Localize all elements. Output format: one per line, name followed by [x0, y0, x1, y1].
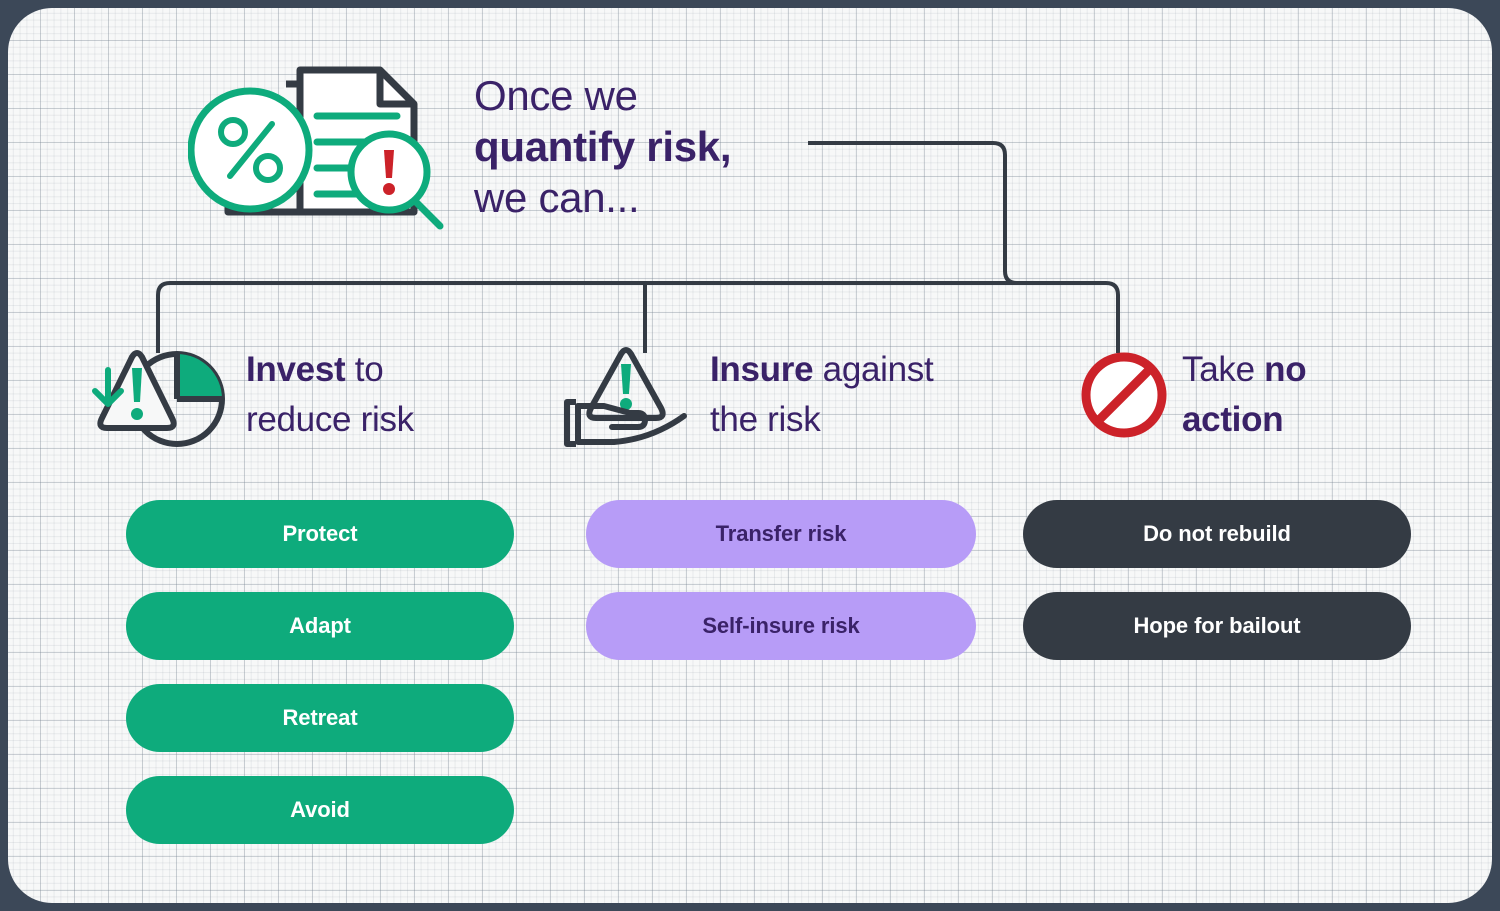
branch-invest-title: Invest to reduce risk: [246, 345, 414, 445]
branch-no-action-head: Take no action: [1076, 333, 1306, 457]
branch-invest-title-line2: reduce risk: [246, 395, 414, 445]
pill-avoid[interactable]: Avoid: [126, 776, 514, 844]
branch-invest-title-rest: to: [345, 350, 383, 389]
pill-transfer-risk[interactable]: Transfer risk: [586, 500, 976, 568]
hand-holding-warning-triangle-icon: [560, 340, 700, 450]
branch-no-action-title: Take no action: [1182, 345, 1306, 445]
branch-insure-title: Insure against the risk: [710, 345, 933, 445]
pill-do-not-rebuild[interactable]: Do not rebuild: [1023, 500, 1411, 568]
pill-protect[interactable]: Protect: [126, 500, 514, 568]
branch-insure-head: Insure against the risk: [560, 333, 933, 457]
branch-invest-head: Invest to reduce risk: [86, 333, 414, 457]
branch-no-action: Take no action: [1076, 333, 1306, 457]
pill-self-insure-risk[interactable]: Self-insure risk: [586, 592, 976, 660]
header-line-1: Once we: [474, 70, 731, 121]
pill-column-insure: Transfer risk Self-insure risk: [586, 500, 976, 660]
branch-no-action-title-lead: Take: [1182, 350, 1264, 389]
header-title: Once we quantify risk, we can...: [474, 54, 731, 223]
pill-column-no-action: Do not rebuild Hope for bailout: [1023, 500, 1411, 660]
screenshot-root: Once we quantify risk, we can...: [0, 0, 1500, 911]
header-block: Once we quantify risk, we can...: [188, 54, 731, 232]
branch-no-action-title-line2: action: [1182, 395, 1306, 445]
branch-insure-title-bold: Insure: [710, 350, 813, 389]
pill-retreat[interactable]: Retreat: [126, 684, 514, 752]
document-percent-magnifier-icon: [188, 54, 450, 232]
pie-chart-warning-down-arrow-icon: [86, 336, 236, 454]
branch-invest-title-bold: Invest: [246, 350, 345, 389]
prohibition-no-entry-icon: [1076, 347, 1172, 443]
branch-insure: Insure against the risk: [560, 333, 933, 457]
pill-column-invest: Protect Adapt Retreat Avoid: [126, 500, 514, 844]
pill-hope-for-bailout[interactable]: Hope for bailout: [1023, 592, 1411, 660]
connector-from-header: [808, 143, 1017, 283]
diagram-card: Once we quantify risk, we can...: [8, 8, 1492, 903]
branch-no-action-title-bold: no: [1264, 350, 1306, 389]
pill-adapt[interactable]: Adapt: [126, 592, 514, 660]
header-line-2: quantify risk,: [474, 121, 731, 172]
branch-insure-title-rest: against: [813, 350, 933, 389]
branch-insure-title-line2: the risk: [710, 395, 933, 445]
branch-invest: Invest to reduce risk: [86, 333, 414, 457]
header-line-3: we can...: [474, 172, 731, 223]
